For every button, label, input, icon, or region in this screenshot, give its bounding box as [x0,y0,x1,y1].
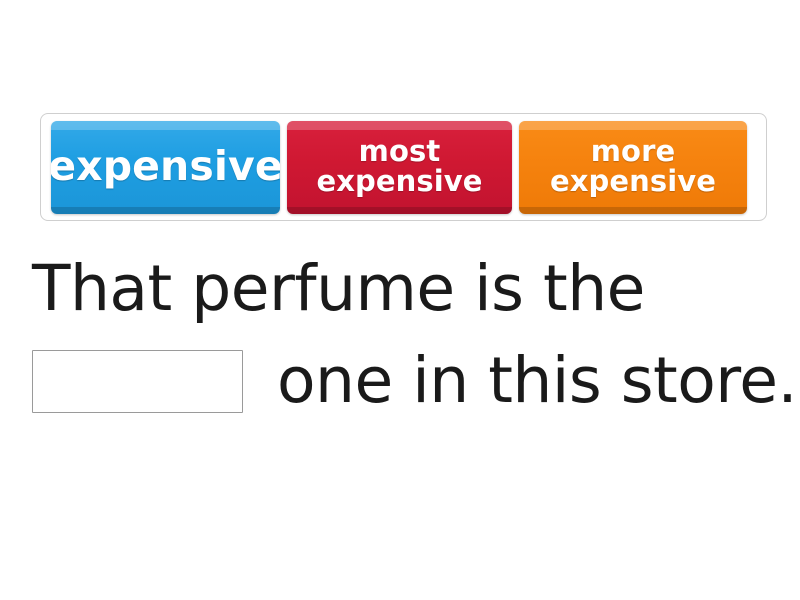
answer-blank-dropzone[interactable] [32,350,243,413]
sentence-line-2-tail: one in this store. [277,335,797,427]
word-tile-expensive[interactable]: expensive [51,121,280,214]
word-tile-label: more expensive [519,137,747,196]
word-tile-label: expensive [51,146,280,188]
sentence-prompt: That perfume is the one in this store. [32,243,782,427]
word-tile-more-expensive[interactable]: more expensive [519,121,747,214]
word-tile-most-expensive[interactable]: most expensive [287,121,512,214]
word-bank-tray: expensive most expensive more expensive [40,113,767,221]
word-tile-label: most expensive [287,137,512,196]
sentence-line-1: That perfume is the [32,243,782,335]
activity-canvas: expensive most expensive more expensive … [0,0,800,600]
